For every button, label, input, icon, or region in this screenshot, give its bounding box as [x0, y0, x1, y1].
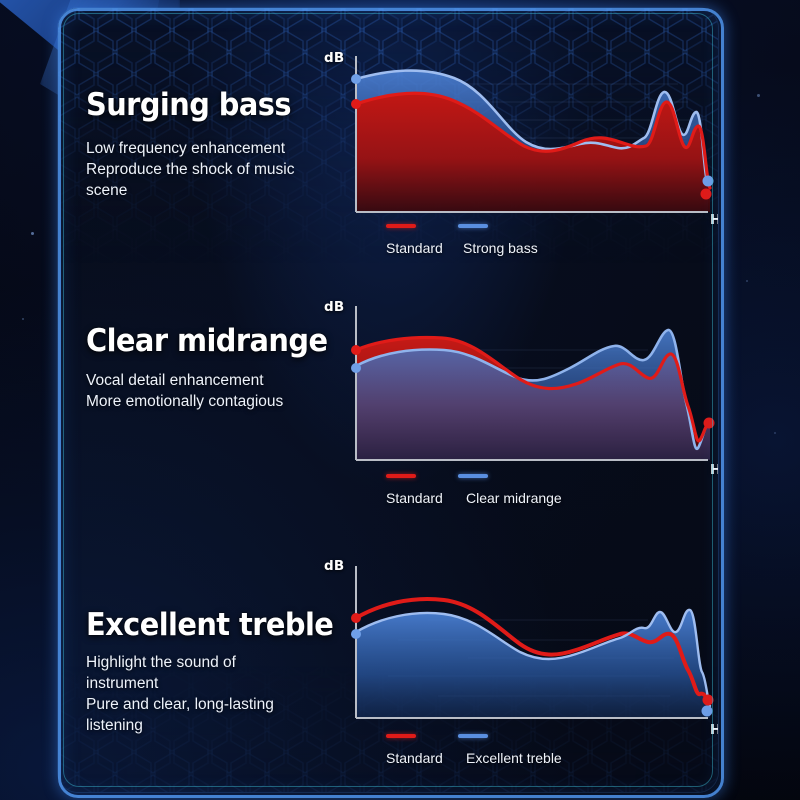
- feature-panel: Surging bass Low frequency enhancement R…: [58, 8, 718, 792]
- description-line: More emotionally contagious: [86, 391, 346, 412]
- dust-spark: [31, 232, 34, 235]
- chart-clear-midrange: dB HZ: [318, 290, 698, 480]
- section-title-excellent-treble: Excellent treble: [86, 610, 333, 641]
- dust-spark: [757, 94, 760, 97]
- chart-legend-excellent-treble: Standard Excellent treble: [318, 728, 718, 774]
- description-line: Low frequency enhancement: [86, 138, 331, 159]
- poster-stage: Surging bass Low frequency enhancement R…: [0, 0, 800, 800]
- description-line: Reproduce the shock of music: [86, 159, 331, 180]
- legend-label-standard: Standard: [386, 490, 443, 506]
- legend-swatch-standard: [386, 224, 416, 228]
- legend-label-variant: Clear midrange: [466, 490, 562, 506]
- section-description-surging-bass: Low frequency enhancement Reproduce the …: [86, 138, 331, 201]
- section-title-surging-bass: Surging bass: [86, 90, 291, 121]
- description-line: Vocal detail enhancement: [86, 370, 346, 391]
- legend-label-variant: Strong bass: [463, 240, 538, 256]
- chart-excellent-treble: dB HZ: [318, 548, 698, 738]
- section-description-clear-midrange: Vocal detail enhancement More emotionall…: [86, 370, 346, 412]
- legend-label-variant: Excellent treble: [466, 750, 562, 766]
- legend-swatch-standard: [386, 474, 416, 478]
- legend-label-standard: Standard: [386, 240, 443, 256]
- description-line: instrument: [86, 673, 351, 694]
- description-line: Pure and clear, long-lasting: [86, 694, 351, 715]
- chart-plot-surging-bass: [318, 42, 718, 232]
- chart-legend-surging-bass: Standard Strong bass: [318, 218, 718, 264]
- chart-legend-clear-midrange: Standard Clear midrange: [318, 468, 718, 514]
- legend-swatch-standard: [386, 734, 416, 738]
- legend-label-standard: Standard: [386, 750, 443, 766]
- section-description-excellent-treble: Highlight the sound of instrument Pure a…: [86, 652, 351, 736]
- legend-swatch-variant: [458, 224, 488, 228]
- description-line: Highlight the sound of: [86, 652, 351, 673]
- dust-spark: [746, 280, 748, 282]
- dust-spark: [22, 318, 24, 320]
- chart-plot-clear-midrange: [318, 290, 718, 480]
- description-line: scene: [86, 180, 331, 201]
- chart-plot-excellent-treble: [318, 548, 718, 738]
- chart-surging-bass: dB HZ: [318, 42, 698, 232]
- legend-swatch-variant: [458, 734, 488, 738]
- description-line: listening: [86, 715, 351, 736]
- section-title-clear-midrange: Clear midrange: [86, 326, 327, 357]
- legend-swatch-variant: [458, 474, 488, 478]
- dust-spark: [774, 432, 776, 434]
